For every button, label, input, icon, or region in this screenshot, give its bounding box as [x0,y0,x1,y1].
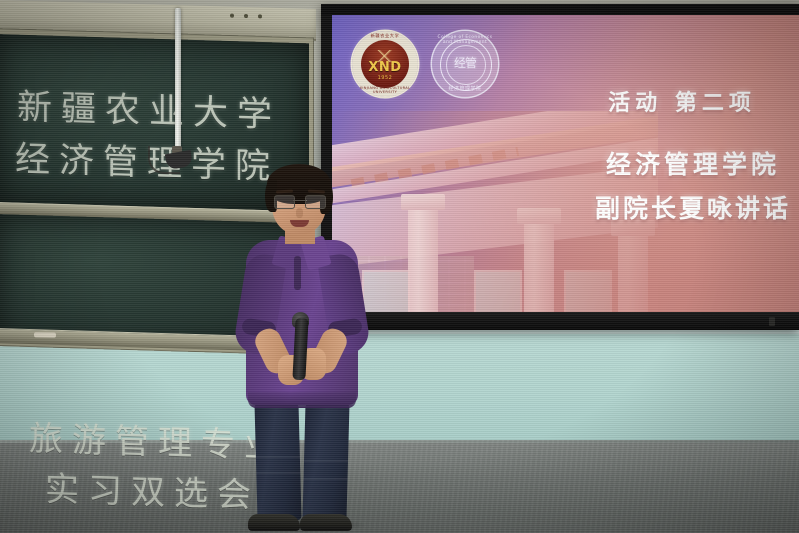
shirt-hem [248,392,356,408]
projected-slide: 新疆农业大学 XND 1952 XINJIANG AGRICULTURAL UN… [332,15,799,312]
xjau-logo-year: 1952 [361,75,409,81]
chalk-stick-icon [34,332,56,337]
nose [296,208,303,218]
xjau-logo-arc-bottom: XINJIANG AGRICULTURAL UNIVERSITY [352,86,418,94]
screen-bottom-frame [321,312,799,330]
trouser-leg-right [302,402,349,520]
screw-icon [258,14,262,18]
cem-logo-arc-top: College of Economics and Management [432,35,498,45]
xjau-logo-arc-top: 新疆农业大学 [352,33,418,39]
cem-logo-glyph: 经管 [449,53,481,73]
cem-logo-icon: College of Economics and Management 经管 经… [432,31,498,97]
screw-icon [244,14,248,18]
shoe-right [300,514,352,531]
classroom-scene: 新疆农业大学 经济管理学院 旅游管理专业 实习双选会 [0,0,799,533]
glasses-icon [274,195,326,207]
projection-screen: 新疆农业大学 XND 1952 XINJIANG AGRICULTURAL UN… [321,4,799,330]
shoe-left [248,514,300,531]
xjau-logo-field: XND 1952 [361,40,409,88]
slide-speaker-line: 副院长夏咏讲话 [595,189,791,225]
chalk-text-line-1: 新疆农业大学 [17,79,281,138]
screw-icon [230,14,234,18]
slide-subheading: 经济管理学院 [595,145,791,181]
presenter-legs [254,402,352,524]
xjau-logo-monogram: XND [361,60,409,75]
slide-text-block: 活动 第二项 经济管理学院 副院长夏咏讲话 [595,85,791,225]
trouser-leg-left [254,402,301,520]
cem-logo-arc-bottom: 经济管理学院 [432,85,498,92]
screen-hook-icon [769,317,775,326]
lens-left [274,195,295,209]
lens-right [305,195,326,209]
shirt-placket [294,256,301,290]
presenter [228,170,378,533]
slide-heading: 活动 第二项 [595,85,791,117]
xjau-logo-icon: 新疆农业大学 XND 1952 XINJIANG AGRICULTURAL UN… [352,31,418,97]
slide-logos: 新疆农业大学 XND 1952 XINJIANG AGRICULTURAL UN… [352,31,498,97]
hanging-lamp-pole [175,8,181,158]
